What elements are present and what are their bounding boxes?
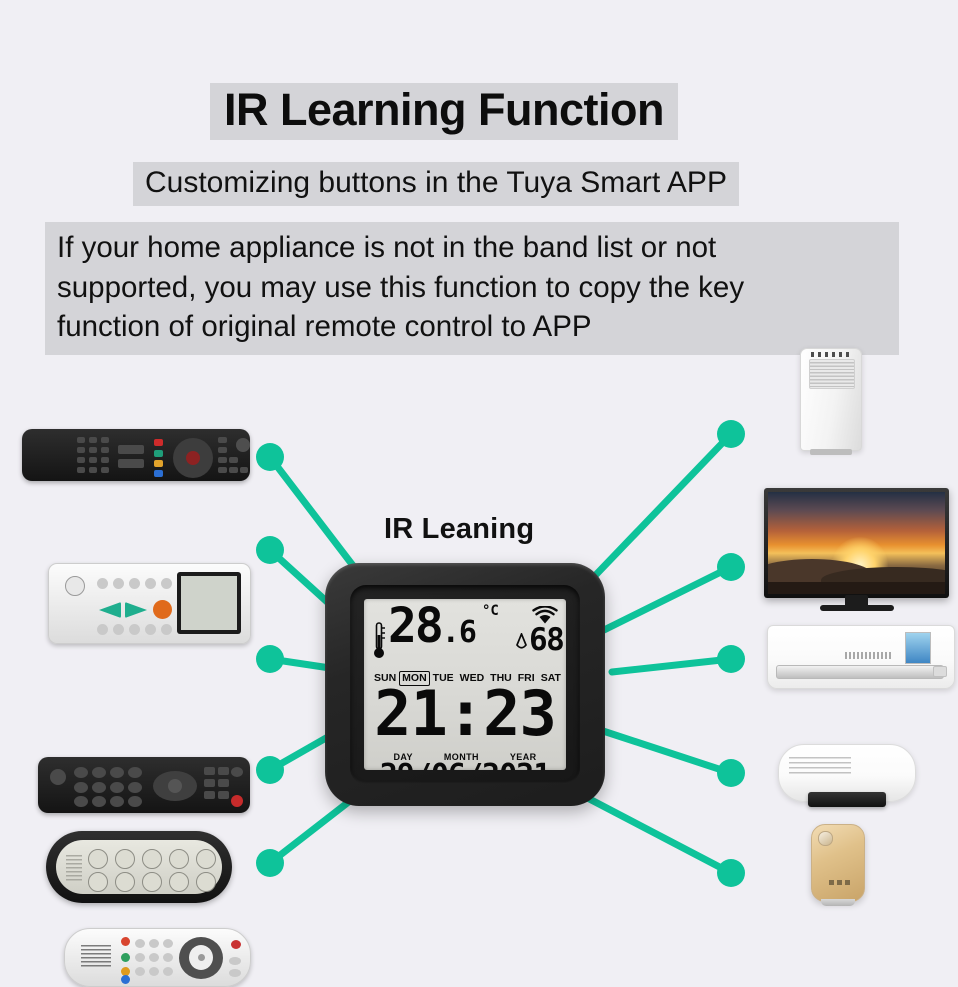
lcd-screen: 28.6 °C 68 % SUN xyxy=(364,599,566,770)
device-bezel: 28.6 °C 68 % SUN xyxy=(350,585,580,784)
connector-right-3 xyxy=(612,659,731,672)
connector-dot-right-1 xyxy=(717,420,745,448)
temperature-decimal: .6 xyxy=(442,615,476,650)
tv-remote-black xyxy=(22,429,250,481)
temperature-unit: °C xyxy=(482,604,499,618)
stb-remote-black xyxy=(38,757,250,813)
temperature-value: 28.6 xyxy=(388,602,476,650)
temperature-integer: 28 xyxy=(388,599,442,654)
flat-screen-tv xyxy=(764,488,949,598)
portable-air-conditioner xyxy=(800,348,862,451)
infographic-canvas: IR Learning Function Customizing buttons… xyxy=(0,0,958,958)
humidity-value: 68 xyxy=(529,625,563,656)
oval-remote-black xyxy=(46,831,232,903)
connector-dot-left-2 xyxy=(256,536,284,564)
clock-time: 21:23 xyxy=(364,683,566,745)
lcd-sensor-row: 28.6 °C 68 % xyxy=(364,603,566,671)
connector-dot-left-5 xyxy=(256,849,284,877)
connector-right-5 xyxy=(578,793,731,873)
connector-dot-right-4 xyxy=(717,759,745,787)
connector-right-2 xyxy=(604,567,731,630)
ac-remote-white-lcd xyxy=(48,563,251,644)
electric-water-heater xyxy=(778,744,916,802)
ir-remote-hub: 28.6 °C 68 % SUN xyxy=(325,563,605,806)
connector-right-1 xyxy=(588,434,731,583)
connector-dot-left-4 xyxy=(256,756,284,784)
water-drop-icon xyxy=(516,633,527,650)
mini-projector xyxy=(811,824,865,902)
connector-dot-right-2 xyxy=(717,553,745,581)
connector-dot-left-3 xyxy=(256,645,284,673)
date-value: 29/06/2021 xyxy=(364,761,566,770)
thermometer-icon xyxy=(372,621,386,661)
connector-dot-left-1 xyxy=(256,443,284,471)
tv-screen-image xyxy=(768,492,945,594)
split-air-conditioner xyxy=(767,625,955,689)
connector-dot-right-3 xyxy=(717,645,745,673)
connector-dot-right-5 xyxy=(717,859,745,887)
connector-right-4 xyxy=(600,730,731,773)
center-label: IR Leaning xyxy=(384,513,534,546)
